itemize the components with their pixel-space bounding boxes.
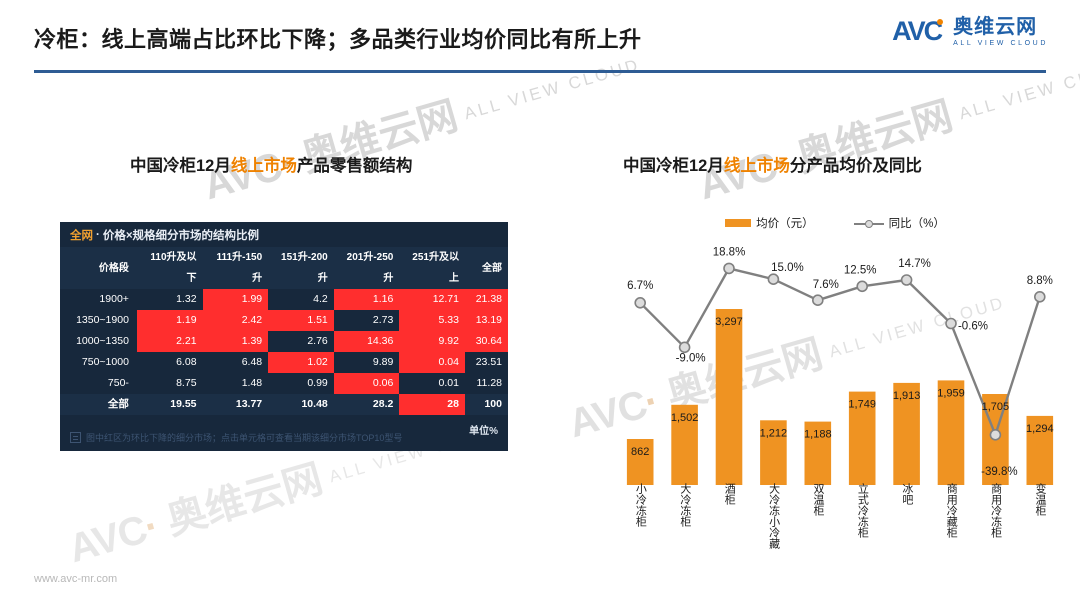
page-title: 冷柜：线上高端占比环比下降；多品类行业均价同比有所上升 [34, 22, 642, 54]
table-cell[interactable]: 2.21 [137, 331, 203, 352]
left-panel-title: 中国冷柜12月线上市场产品零售额结构 [130, 152, 412, 176]
table-row-label: 750~1000 [60, 352, 137, 373]
chart-x-label: 立式冷冻柜 [856, 483, 867, 538]
legend-item-bar[interactable]: 均价（元） [725, 215, 814, 231]
chart-bar-value-label: 1,294 [1026, 423, 1054, 435]
watermark-cn: 奥维云网 [162, 457, 328, 543]
legend-line-label: 同比（%） [889, 215, 945, 231]
table-cell[interactable]: 11.28 [465, 373, 508, 394]
table-row: 750~10006.086.481.029.890.0423.51 [60, 352, 508, 373]
left-title-prefix: 中国冷柜12月 [130, 157, 231, 175]
table-cell[interactable]: 12.71 [399, 289, 465, 310]
table-row-label: 1900+ [60, 289, 137, 310]
logo-dot-icon [937, 19, 943, 25]
left-title-suffix: 产品零售额结构 [297, 157, 413, 175]
table-cell[interactable]: 1.99 [203, 289, 269, 310]
chart-line-value-label: 14.7% [898, 258, 931, 270]
table-cell[interactable]: 21.38 [465, 289, 508, 310]
table-cell[interactable]: 1.02 [268, 352, 334, 373]
chart-line-value-label: -9.0% [676, 352, 706, 364]
table-cell[interactable]: 1.48 [203, 373, 269, 394]
chart-line-marker[interactable] [768, 274, 778, 284]
chart-x-label: 小冷冻柜 [634, 483, 645, 527]
chart-x-label: 变温柜 [1034, 483, 1045, 516]
legend-item-line[interactable]: 同比（%） [854, 215, 945, 231]
table-cell[interactable]: 0.01 [399, 373, 465, 394]
table-cell[interactable]: 1.51 [268, 310, 334, 331]
matrix-scope-tag: 全网 [70, 227, 93, 243]
table-cell[interactable]: 2.73 [334, 310, 400, 331]
table-row-label: 1350~1900 [60, 310, 137, 331]
matrix-footnote: 图中红区为环比下降的细分市场；点击单元格可查看当期该细分市场TOP10型号 [70, 431, 402, 444]
chart-line-value-label: -39.8% [981, 466, 1017, 478]
logo-mark: AVC [892, 18, 941, 45]
table-cell[interactable]: 14.36 [334, 331, 400, 352]
chart-line-marker[interactable] [902, 275, 912, 285]
table-cell[interactable]: 8.75 [137, 373, 203, 394]
price-yoy-chart: 均价（元） 同比（%） 8621,5023,2971,2121,1881,749… [600, 215, 1070, 555]
chart-line-value-label: 7.6% [813, 279, 839, 291]
chart-line-marker[interactable] [857, 281, 867, 291]
chart-line-value-label: 8.8% [1027, 275, 1053, 287]
chart-x-label: 大冷冻小冷藏 [767, 483, 778, 549]
table-cell[interactable]: 6.48 [203, 352, 269, 373]
chart-bar[interactable] [716, 309, 743, 485]
chart-bar-value-label: 1,705 [982, 401, 1010, 413]
chart-x-label: 商用冷冻柜 [989, 483, 1000, 538]
chart-line-value-label: 6.7% [627, 280, 653, 292]
chart-x-label: 冰吧 [901, 483, 912, 505]
legend-bar-label: 均价（元） [756, 215, 814, 231]
table-header-row: 价格段110升及以下111升-150升151升-200升201升-250升251… [60, 247, 508, 289]
table-col-header: 251升及以上 [399, 247, 465, 289]
chart-bar-value-label: 3,297 [715, 316, 743, 328]
right-title-prefix: 中国冷柜12月 [623, 157, 724, 175]
table-col-header: 201升-250升 [334, 247, 400, 289]
chart-x-axis: 小冷冻柜大冷冻柜酒柜大冷冻小冷藏双温柜立式冷冻柜冰吧商用冷藏柜商用冷冻柜变温柜 [600, 483, 1070, 568]
slide-page: AVC·奥维云网ALL VIEW CLOUD AVC·奥维云网ALL VIEW … [0, 0, 1080, 608]
table-row: 1900+1.321.994.21.1612.7121.38 [60, 289, 508, 310]
chart-line-marker[interactable] [813, 295, 823, 305]
chart-svg: 8621,5023,2971,2121,1881,7491,9131,9591,… [600, 245, 1070, 485]
chart-x-label: 商用冷藏柜 [945, 483, 956, 538]
table-row-label: 750- [60, 373, 137, 394]
chart-bar-value-label: 1,749 [848, 399, 876, 411]
logo-mark-text: AVC [892, 16, 941, 46]
table-cell[interactable]: 9.92 [399, 331, 465, 352]
chart-bar-value-label: 862 [631, 446, 649, 458]
table-cell[interactable]: 1.19 [137, 310, 203, 331]
table-cell[interactable]: 0.06 [334, 373, 400, 394]
table-col-header: 110升及以下 [137, 247, 203, 289]
chart-line-marker[interactable] [946, 319, 956, 329]
right-title-highlight: 线上市场 [724, 157, 790, 175]
table-cell[interactable]: 0.04 [399, 352, 465, 373]
chart-plot-area: 8621,5023,2971,2121,1881,7491,9131,9591,… [600, 245, 1070, 485]
chart-line-marker[interactable] [680, 342, 690, 352]
avc-logo: AVC 奥维云网 ALL VIEW CLOUD [892, 16, 1048, 47]
logo-cn-name: 奥维云网 [953, 16, 1048, 38]
chart-x-label: 大冷冻柜 [679, 483, 690, 527]
legend-line-swatch-icon [854, 218, 884, 228]
chart-x-label: 酒柜 [723, 483, 734, 505]
chart-line-value-label: 15.0% [771, 262, 804, 274]
chart-legend: 均价（元） 同比（%） [600, 215, 1070, 231]
table-col-header: 151升-200升 [268, 247, 334, 289]
table-cell[interactable]: 0.99 [268, 373, 334, 394]
table-cell[interactable]: 1.39 [203, 331, 269, 352]
table-col-header: 111升-150升 [203, 247, 269, 289]
chart-bar-value-label: 1,188 [804, 429, 832, 441]
watermark-mark: AVC [64, 507, 152, 571]
chart-line-marker[interactable] [990, 430, 1000, 440]
right-title-suffix: 分产品均价及同比 [790, 157, 922, 175]
matrix-unit-label: 单位% [469, 422, 498, 437]
chart-x-label: 双温柜 [812, 483, 823, 516]
table-cell[interactable]: 2.42 [203, 310, 269, 331]
logo-text-block: 奥维云网 ALL VIEW CLOUD [953, 16, 1048, 47]
table-row: 1000~13502.211.392.7614.369.9230.64 [60, 331, 508, 352]
table-row-label: 1000~1350 [60, 331, 137, 352]
matrix-card-footer: 图中红区为环比下降的细分市场；点击单元格可查看当期该细分市场TOP10型号 单位… [60, 407, 508, 451]
table-body: 1900+1.321.994.21.1612.7121.381350~19001… [60, 289, 508, 415]
chart-bar-value-label: 1,959 [937, 387, 965, 399]
matrix-card-header: 全网 · 价格×规格细分市场的结构比例 [60, 222, 508, 247]
info-note-icon [70, 432, 81, 443]
chart-line-marker[interactable] [1035, 292, 1045, 302]
chart-line-marker[interactable] [724, 263, 734, 273]
structure-matrix-card: 全网 · 价格×规格细分市场的结构比例 价格段110升及以下111升-150升1… [60, 222, 508, 451]
matrix-card-title: 价格×规格细分市场的结构比例 [103, 227, 259, 243]
table-row: 1350~19001.192.421.512.735.3313.19 [60, 310, 508, 331]
logo-en-name: ALL VIEW CLOUD [953, 40, 1048, 47]
table-cell[interactable]: 23.51 [465, 352, 508, 373]
table-cell[interactable]: 5.33 [399, 310, 465, 331]
page-header: 冷柜：线上高端占比环比下降；多品类行业均价同比有所上升 AVC 奥维云网 ALL… [0, 0, 1080, 74]
table-cell[interactable]: 1.32 [137, 289, 203, 310]
table-col-header: 价格段 [60, 247, 137, 289]
header-divider [34, 70, 1046, 73]
chart-bar-value-label: 1,502 [671, 412, 699, 424]
left-title-highlight: 线上市场 [231, 157, 297, 175]
table-row: 750-8.751.480.990.060.0111.28 [60, 373, 508, 394]
matrix-footnote-text: 图中红区为环比下降的细分市场；点击单元格可查看当期该细分市场TOP10型号 [86, 431, 402, 444]
table-col-header: 全部 [465, 247, 508, 289]
chart-bar-value-label: 1,212 [760, 427, 788, 439]
structure-table: 价格段110升及以下111升-150升151升-200升201升-250升251… [60, 247, 508, 415]
table-cell[interactable]: 1.16 [334, 289, 400, 310]
legend-bar-swatch-icon [725, 219, 751, 227]
table-cell[interactable]: 13.19 [465, 310, 508, 331]
footer-url: www.avc-mr.com [34, 573, 117, 585]
chart-line-value-label: 18.8% [713, 246, 746, 258]
chart-line-marker[interactable] [635, 298, 645, 308]
table-cell[interactable]: 2.76 [268, 331, 334, 352]
chart-line-value-label: 12.5% [844, 264, 877, 276]
chart-bar-value-label: 1,913 [893, 390, 921, 402]
matrix-separator: · [96, 229, 100, 241]
table-cell[interactable]: 6.08 [137, 352, 203, 373]
table-cell[interactable]: 9.89 [334, 352, 400, 373]
chart-line-value-label: -0.6% [958, 321, 988, 333]
table-cell[interactable]: 30.64 [465, 331, 508, 352]
table-cell[interactable]: 4.2 [268, 289, 334, 310]
right-panel-title: 中国冷柜12月线上市场分产品均价及同比 [623, 152, 922, 176]
